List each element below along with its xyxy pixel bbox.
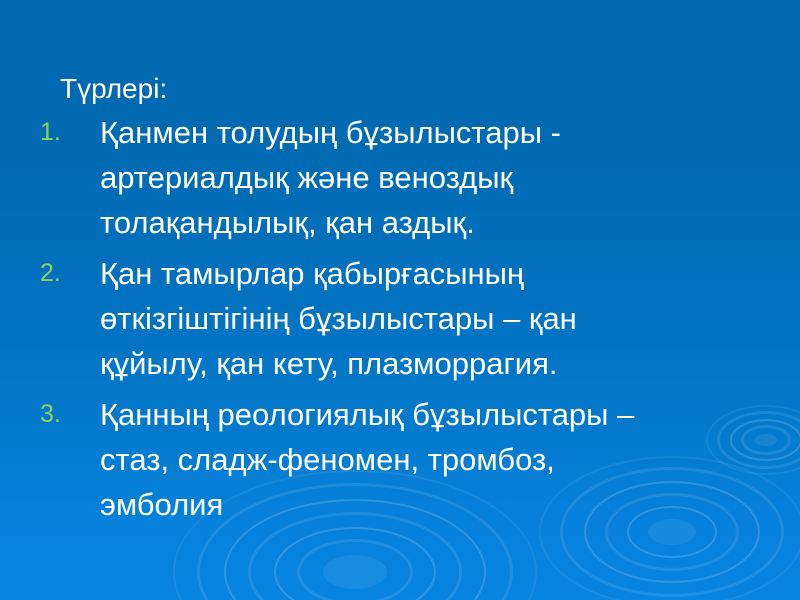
list-item-text: Қанмен толудың бұзылыстары - артериалдық… [100,110,736,245]
list-item: 3. Қанның реологиялық бұзылыстары – стаз… [36,392,736,527]
list-item-number: 2. [40,251,86,296]
list-item-number: 1. [40,110,86,155]
slide-title: Түрлері: [60,72,167,106]
presentation-slide: Түрлері: 1. Қанмен толудың бұзылыстары -… [0,0,800,600]
list-item-text: Қанның реологиялық бұзылыстары – стаз, с… [100,392,736,527]
list-item-text: Қан тамырлар қабырғасының өткізгіштігіні… [100,251,736,386]
list-item-number: 3. [40,392,86,437]
list-item: 2. Қан тамырлар қабырғасының өткізгіштіг… [36,251,736,386]
list-item: 1. Қанмен толудың бұзылыстары - артериал… [36,110,736,245]
numbered-list: 1. Қанмен толудың бұзылыстары - артериал… [36,110,736,533]
slide-content: Түрлері: 1. Қанмен толудың бұзылыстары -… [0,0,800,600]
